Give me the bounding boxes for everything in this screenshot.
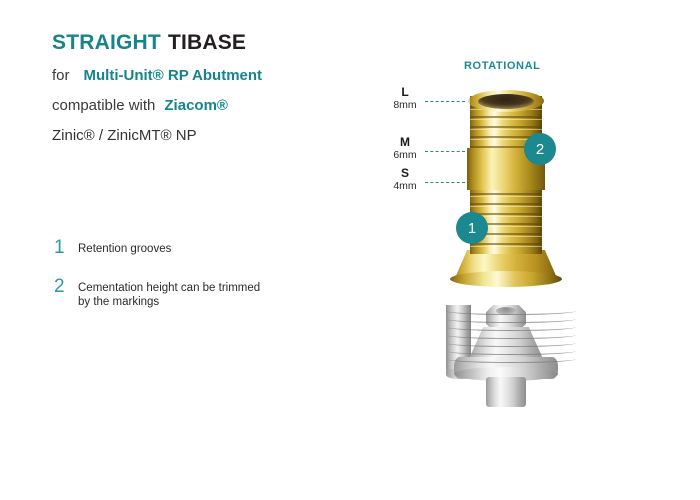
size-callout-s: S 4mm [380,167,430,193]
product-info-panel: STRAIGHTTIBASE forMulti-Unit® RP Abutmen… [52,30,382,156]
brand-name: Ziacom® [164,97,228,114]
size-callout-m: M 6mm [380,136,430,162]
size-callout-l: L 8mm [380,86,430,112]
tibase-base-rim [450,271,562,287]
legend-number: 2 [54,279,78,294]
callout-badge-1[interactable]: 1 [456,212,488,244]
for-label: for [52,67,70,84]
model-names: Zinic® / ZinicMT® NP [52,126,382,145]
abutment-name: Multi-Unit® RP Abutment [84,67,263,84]
legend-label: Retention grooves [78,240,171,256]
abutment-screw [446,305,471,369]
legend-label: Cementation height can be trimmed by the… [78,279,260,309]
product-title-secondary: TIBASE [168,31,246,54]
size-letter: M [380,136,430,149]
silver-abutment-image [446,305,576,475]
size-value: 8mm [380,99,430,112]
size-value: 4mm [380,180,430,193]
legend: 1 Retention grooves 2 Cementation height… [54,240,354,332]
gold-tibase-image [440,90,580,285]
product-illustration: ROTATIONAL L 8mm M 6mm S 4mm [360,0,700,500]
abutment-shoulder [486,377,526,407]
size-letter: L [380,86,430,99]
rotational-label: ROTATIONAL [464,60,540,72]
compatible-with-label: compatible with [52,97,155,114]
legend-item: 2 Cementation height can be trimmed by t… [54,279,354,309]
product-title-primary: STRAIGHT [52,31,161,54]
tibase-bore [478,94,534,109]
compatibility-abutment-line: forMulti-Unit® RP Abutment [52,66,382,85]
callout-badge-2[interactable]: 2 [524,133,556,165]
legend-item: 1 Retention grooves [54,240,354,256]
size-value: 6mm [380,149,430,162]
size-letter: S [380,167,430,180]
page-title: STRAIGHTTIBASE [52,30,382,56]
legend-number: 1 [54,240,78,255]
compatibility-brand-line: compatible withZiacom® [52,96,382,115]
